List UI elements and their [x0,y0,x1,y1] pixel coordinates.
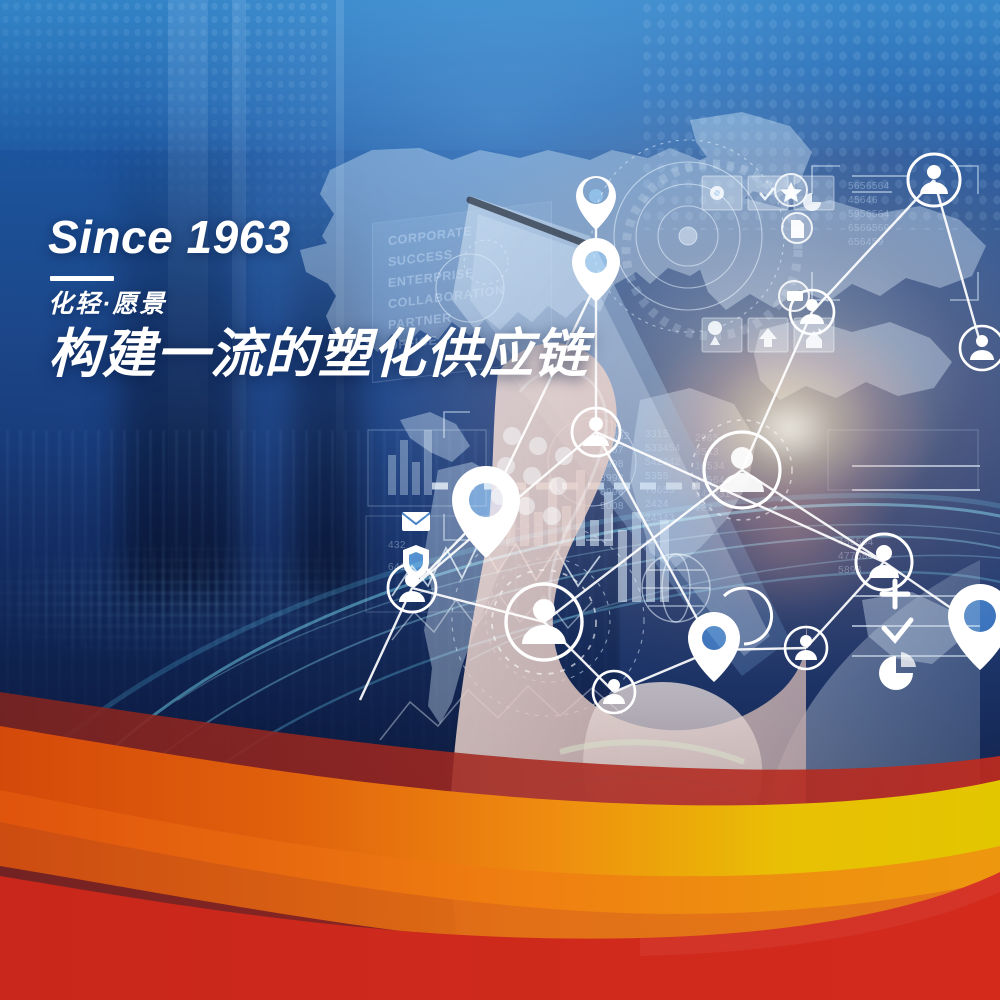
decorative-waves [0,670,1000,1000]
subtitle-text: 化轻·愿景 [48,289,588,319]
banner-image: CORPORATE SUCCESS ENTERPRISE COLLABORATI… [0,0,1000,1000]
divider-rule [50,276,114,281]
eyebrow-text: Since 1963 [48,214,588,260]
headline-block: Since 1963 化轻·愿景 构建一流的塑化供应链 [48,214,588,386]
page-title: 构建一流的塑化供应链 [48,325,588,386]
